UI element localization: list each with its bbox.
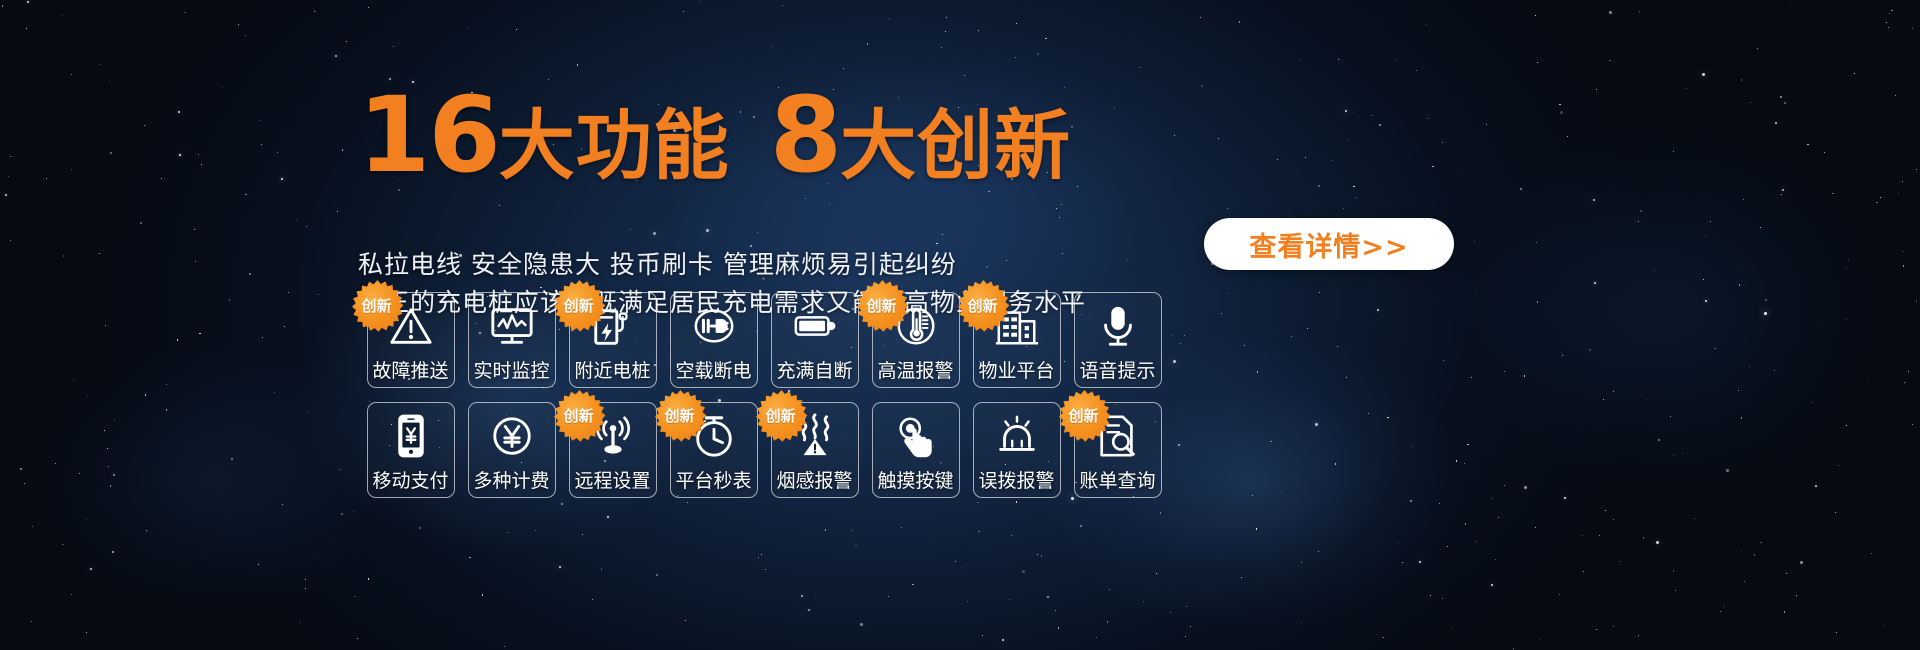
feature-label: 语音提示: [1079, 359, 1155, 383]
smoke-warning-icon: [791, 412, 839, 460]
headline-number-16: 16: [358, 88, 499, 184]
feature-cell: 远程设置创新: [562, 402, 663, 512]
touch-hand-icon: [892, 412, 940, 460]
feature-label: 实时监控: [473, 359, 549, 383]
feature-card[interactable]: 故障推送创新: [367, 292, 455, 388]
feature-card[interactable]: 附近电桩创新: [569, 292, 657, 388]
siren-alarm-icon: [993, 412, 1041, 460]
feature-label: 空载断电: [675, 359, 751, 383]
feature-cell: 触摸按键: [865, 402, 966, 512]
feature-cell: 多种计费: [461, 402, 562, 512]
feature-label: 多种计费: [473, 469, 549, 493]
feature-card[interactable]: 平台秒表创新: [670, 402, 758, 498]
battery-full-icon: [791, 302, 839, 350]
promo-banner: 16 大功能 8 大创新 查看详情>> 私拉电线 安全隐患大 投币刷卡 管理麻烦…: [0, 0, 1920, 650]
warning-triangle-icon: [387, 302, 435, 350]
feature-label: 物业平台: [978, 359, 1054, 383]
feature-card[interactable]: 账单查询创新: [1074, 402, 1162, 498]
buildings-icon: [993, 302, 1041, 350]
phone-yuan-icon: [387, 412, 435, 460]
stopwatch-clock-icon: [690, 412, 738, 460]
monitor-waveform-icon: [488, 302, 536, 350]
document-search-icon: [1094, 412, 1142, 460]
feature-card[interactable]: 实时监控: [468, 292, 556, 388]
view-details-button[interactable]: 查看详情>>: [1204, 218, 1454, 270]
feature-card[interactable]: 误拨报警: [973, 402, 1061, 498]
feature-card[interactable]: 多种计费: [468, 402, 556, 498]
feature-cell: 烟感报警创新: [764, 402, 865, 512]
feature-label: 误拨报警: [978, 469, 1054, 493]
feature-card[interactable]: 触摸按键: [872, 402, 960, 498]
plug-circle-icon: [690, 302, 738, 350]
feature-cell: 语音提示: [1067, 292, 1168, 402]
feature-cell: 实时监控: [461, 292, 562, 402]
feature-grid: 故障推送创新实时监控附近电桩创新空载断电充满自断高温报警创新物业平台创新语音提示…: [360, 292, 1168, 512]
feature-card[interactable]: 物业平台创新: [973, 292, 1061, 388]
feature-label: 移动支付: [372, 469, 448, 493]
feature-cell: 账单查询创新: [1067, 402, 1168, 512]
feature-card[interactable]: 空载断电: [670, 292, 758, 388]
microphone-icon: [1094, 302, 1142, 350]
charging-station-icon: [589, 302, 637, 350]
headline-text-functions: 大功能: [499, 108, 730, 184]
feature-label: 烟感报警: [776, 469, 852, 493]
headline-number-8: 8: [770, 88, 840, 184]
feature-cell: 故障推送创新: [360, 292, 461, 402]
feature-cell: 移动支付: [360, 402, 461, 512]
feature-card[interactable]: 烟感报警创新: [771, 402, 859, 498]
feature-label: 远程设置: [574, 469, 650, 493]
feature-label: 故障推送: [372, 359, 448, 383]
feature-card[interactable]: 高温报警创新: [872, 292, 960, 388]
antenna-signal-icon: [589, 412, 637, 460]
yuan-circle-icon: [488, 412, 536, 460]
feature-cell: 空载断电: [663, 292, 764, 402]
feature-card[interactable]: 移动支付: [367, 402, 455, 498]
feature-label: 触摸按键: [877, 469, 953, 493]
feature-label: 附近电桩: [574, 359, 650, 383]
feature-label: 高温报警: [877, 359, 953, 383]
feature-cell: 物业平台创新: [966, 292, 1067, 402]
headline-text-innovations: 大创新: [840, 108, 1071, 184]
feature-card[interactable]: 语音提示: [1074, 292, 1162, 388]
feature-cell: 误拨报警: [966, 402, 1067, 512]
feature-cell: 充满自断: [764, 292, 865, 402]
page-title: 16 大功能 8 大创新: [358, 88, 1071, 184]
feature-cell: 附近电桩创新: [562, 292, 663, 402]
subtitle-line-1: 私拉电线 安全隐患大 投币刷卡 管理麻烦易引起纠纷: [358, 246, 1086, 284]
feature-cell: 高温报警创新: [865, 292, 966, 402]
feature-cell: 平台秒表创新: [663, 402, 764, 512]
feature-card[interactable]: 充满自断: [771, 292, 859, 388]
feature-label: 充满自断: [776, 359, 852, 383]
feature-card[interactable]: 远程设置创新: [569, 402, 657, 498]
thermometer-circle-icon: [892, 302, 940, 350]
feature-label: 平台秒表: [675, 469, 751, 493]
feature-label: 账单查询: [1079, 469, 1155, 493]
